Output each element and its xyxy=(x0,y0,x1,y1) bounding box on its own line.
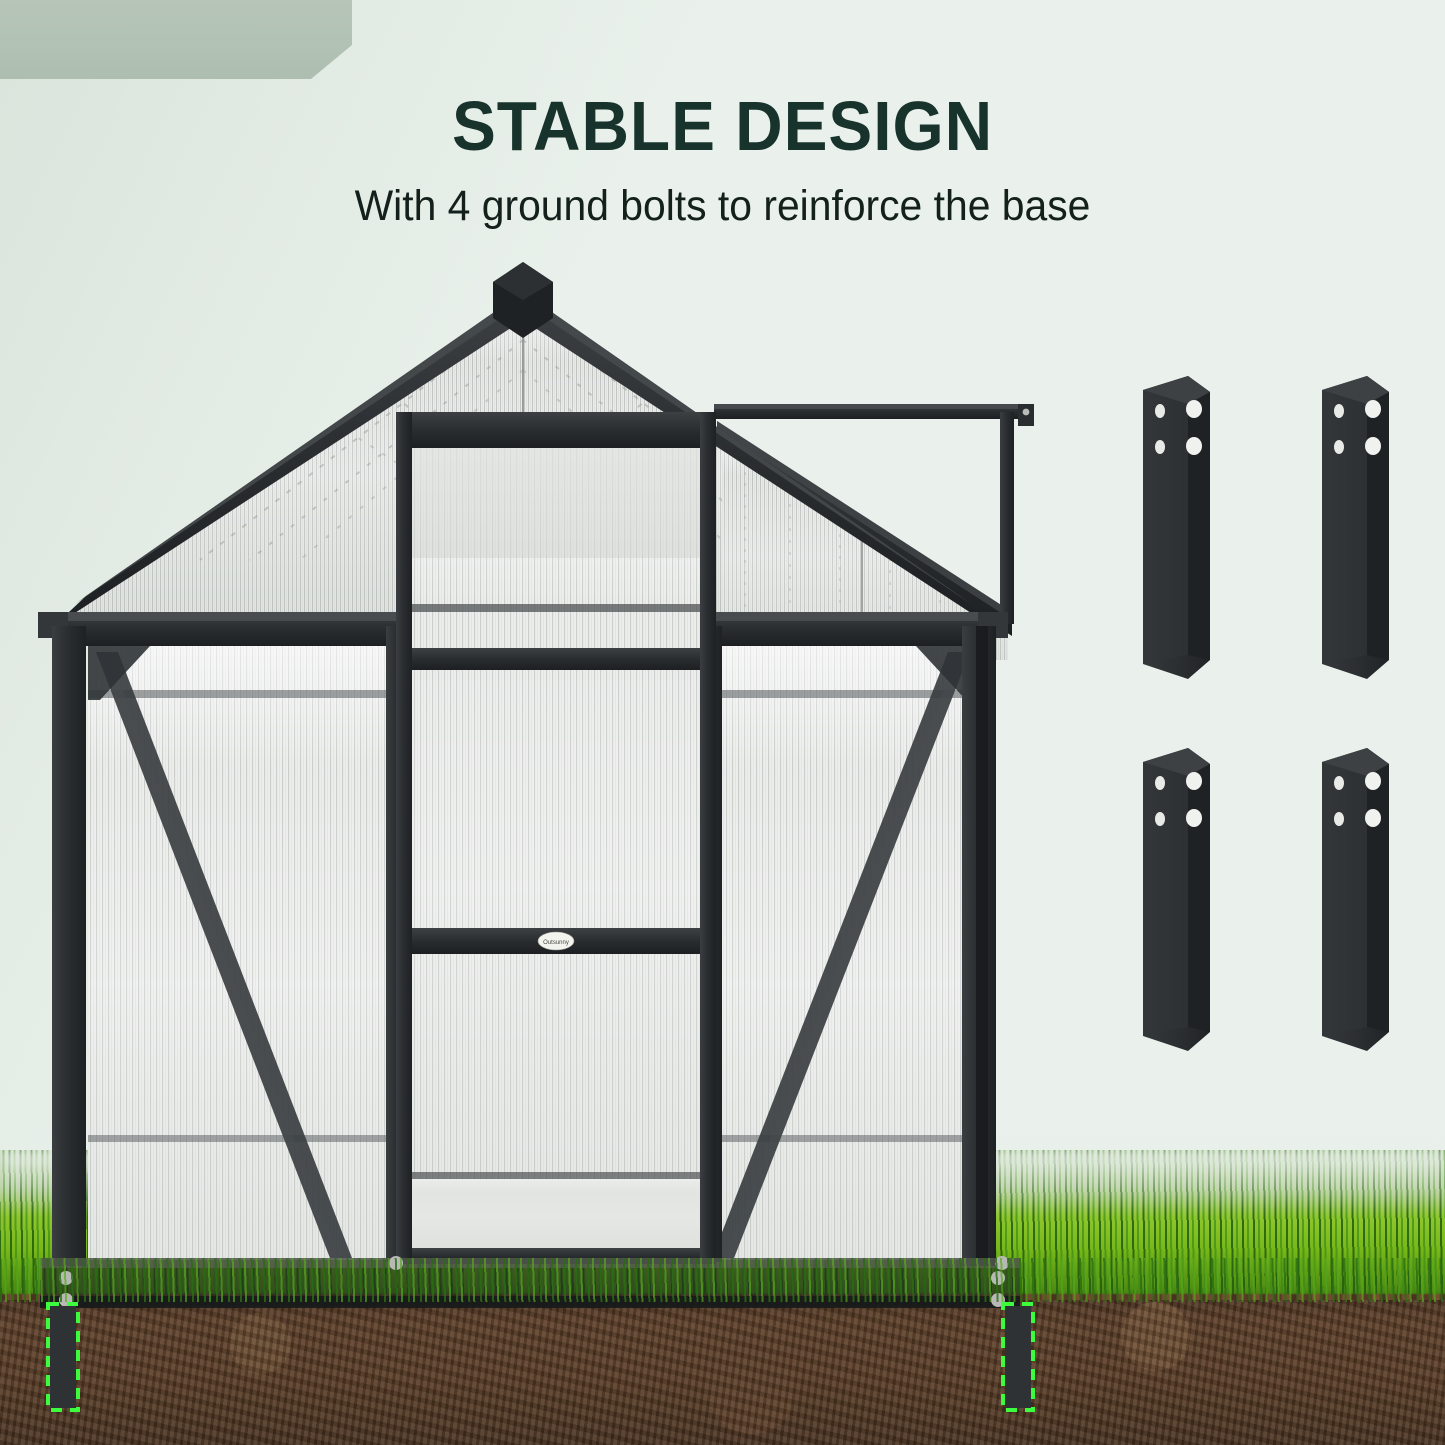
door-stile-right xyxy=(700,412,716,1260)
ground-bolt-1 xyxy=(1143,376,1210,679)
roof-right-post xyxy=(1000,412,1014,624)
product-marketing-image: STABLE DESIGN With 4 ground bolts to rei… xyxy=(0,0,1445,1445)
roof-bar-screw xyxy=(1023,409,1030,416)
ground-bolt-3 xyxy=(1143,748,1210,1051)
right-wall xyxy=(712,646,978,1260)
left-wall xyxy=(88,646,388,1260)
ground-bolt-group xyxy=(1143,376,1389,1051)
ground-bolt-4 xyxy=(1322,748,1389,1051)
door-glazing-line-1 xyxy=(410,604,702,612)
ground-bolt-2 xyxy=(1322,376,1389,679)
door-stile-left xyxy=(396,412,412,1260)
door[interactable] xyxy=(396,412,716,1264)
anchor-left xyxy=(48,1304,78,1410)
door-glazing-line-2 xyxy=(410,1172,702,1179)
door-rail-1 xyxy=(396,648,716,670)
brand-badge: Outsunny xyxy=(538,932,574,950)
grass-foreground-blades xyxy=(0,1258,1445,1302)
corner-post-left xyxy=(52,626,86,1266)
door-header-bar xyxy=(396,412,716,448)
greenhouse-illustration: Outsunny xyxy=(0,0,1445,1445)
brand-badge-label: Outsunny xyxy=(543,940,569,946)
anchor-right xyxy=(1003,1304,1033,1410)
